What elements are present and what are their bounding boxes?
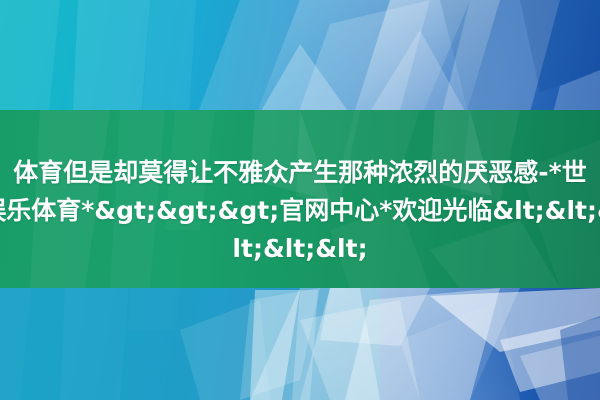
banner-line-2: 娱乐体育*&gt;&gt;&gt;官网中心*欢迎光临&lt;&lt;& [0,192,600,230]
banner-line-3: lt;&lt;&lt; [232,230,367,268]
banner-image: 体育但是却莫得让不雅众产生那种浓烈的厌恶感-*世 娱乐体育*&gt;&gt;&g… [0,0,600,400]
banner-text-block: 体育但是却莫得让不雅众产生那种浓烈的厌恶感-*世 娱乐体育*&gt;&gt;&g… [0,110,600,288]
banner-line-1: 体育但是却莫得让不雅众产生那种浓烈的厌恶感-*世 [13,154,586,192]
